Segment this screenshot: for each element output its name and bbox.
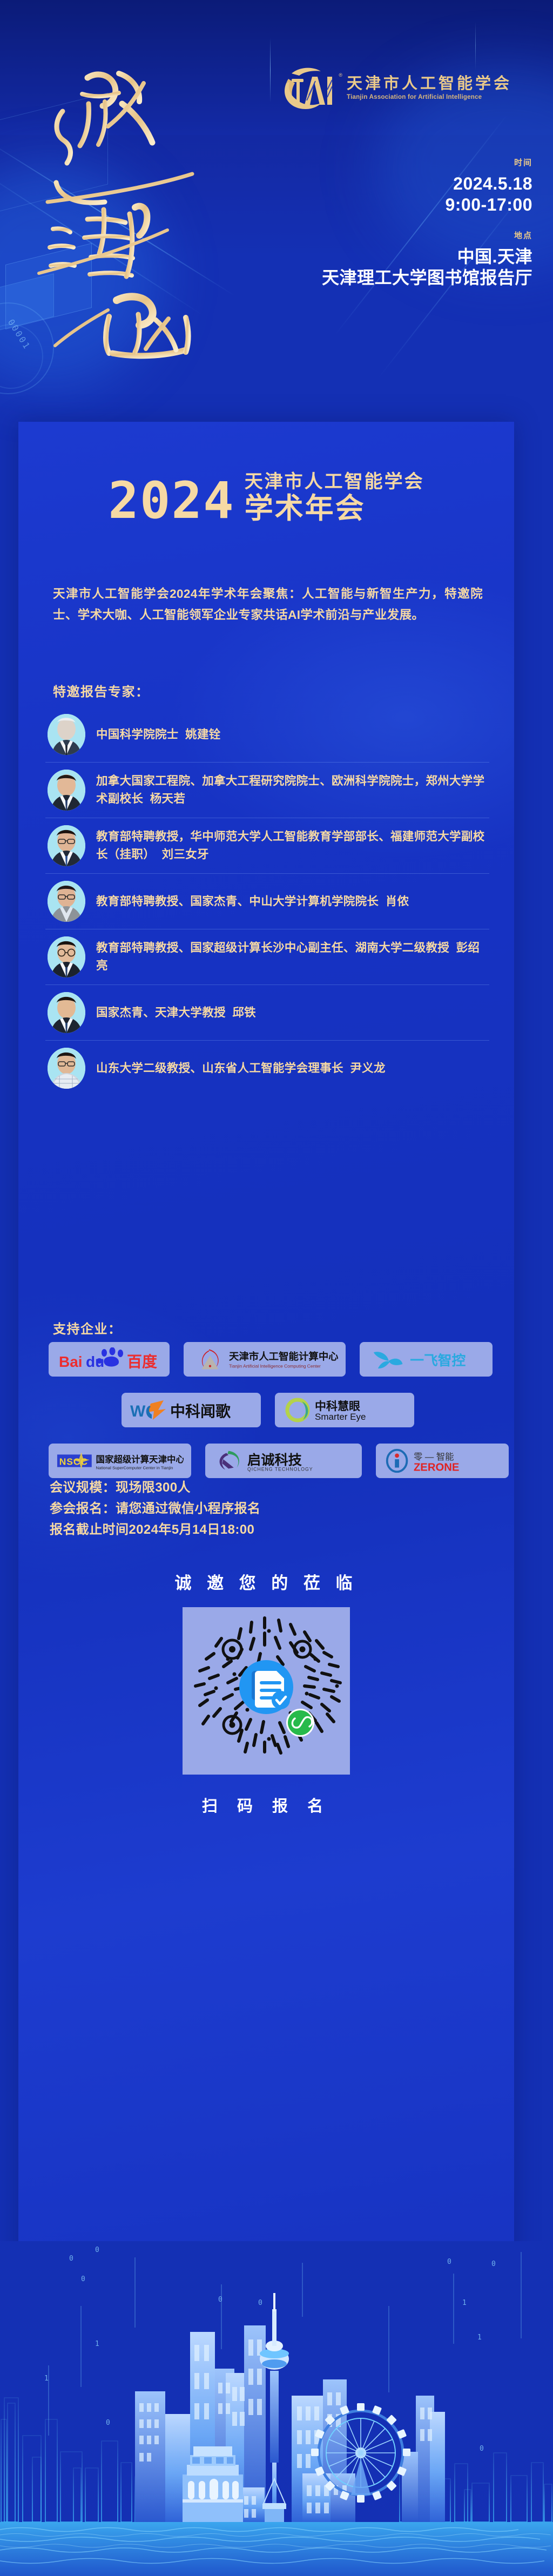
time-date: 2024.5.18 (445, 173, 532, 194)
speaker-name: 肖侬 (386, 895, 409, 908)
qicheng-logo: 启诚科技 QICHENG TECHNOLOGY (205, 1444, 362, 1478)
wenge-logo: W 中科闻歌 (122, 1393, 261, 1427)
svg-text:ZERONE: ZERONE (414, 1461, 459, 1473)
svg-text:1: 1 (44, 2375, 49, 2383)
calligraphy-invitation (24, 48, 218, 361)
svg-text:0: 0 (106, 2419, 110, 2427)
zerone-logo: 零 — 智能 ZERONE (376, 1444, 509, 1478)
speaker-info: 山东大学二级教授、山东省人工智能学会理事长 尹义龙 (96, 1060, 386, 1077)
svg-text:0: 0 (218, 2296, 222, 2304)
svg-text:Smarter Eye: Smarter Eye (315, 1412, 366, 1422)
speaker-name: 邱铁 (232, 1006, 256, 1019)
time-hours: 9:00-17:00 (445, 194, 532, 215)
speaker-title: 国家杰青、天津大学教授 (96, 1006, 226, 1019)
event-title: 2024 天津市人工智能学会 学术年会 (18, 471, 514, 524)
speaker-info: 教育部特聘教授，华中师范大学人工智能教育学部部长、福建师范大学副校长（挂职） 刘… (96, 828, 489, 863)
speaker-info: 加拿大国家工程院、加拿大工程研究院院士、欧洲科学院院士，郑州大学学术副校长 杨天… (96, 772, 489, 807)
place-venue: 天津理工大学图书馆报告厅 (322, 267, 532, 288)
svg-text:0: 0 (480, 2445, 484, 2453)
registration-scale: 会议规模：现场限300人 (50, 1478, 489, 1499)
list-item: 中国科学院院士 姚建铨 (45, 707, 489, 763)
list-item: 加拿大国家工程院、加拿大工程研究院院士、欧洲科学院院士，郑州大学学术副校长 杨天… (45, 763, 489, 818)
speaker-title: 中国科学院院士 (96, 728, 179, 741)
svg-text:0: 0 (258, 2299, 262, 2307)
speaker-info: 教育部特聘教授、国家杰青、中山大学计算机学院院长 肖侬 (96, 893, 409, 911)
place-city: 中国.天津 (322, 246, 532, 267)
list-item: 山东大学二级教授、山东省人工智能学会理事长 尹义龙 (45, 1041, 489, 1096)
avatar (48, 881, 85, 922)
avatar (48, 825, 85, 866)
time-block: 时间 2024.5.18 9:00-17:00 (445, 157, 532, 215)
svg-text:中科慧眼: 中科慧眼 (315, 1400, 360, 1413)
speaker-title: 教育部特聘教授、国家杰青、中山大学计算机学院院长 (96, 895, 379, 908)
speaker-name: 刘三女牙 (162, 848, 209, 861)
yifei-logo: 一飞智控 (360, 1342, 493, 1377)
svg-text:启诚科技: 启诚科技 (247, 1452, 302, 1468)
content-card: 2024 天津市人工智能学会 学术年会 天津市人工智能学会2024年学术年会聚焦… (18, 422, 514, 2269)
svg-text:百度: 百度 (127, 1353, 157, 1370)
svg-text:W: W (130, 1402, 146, 1420)
svg-text:0: 0 (447, 2258, 451, 2266)
title-line-1: 天津市人工智能学会 (245, 471, 424, 493)
place-label: 地点 (322, 230, 532, 241)
sponsor-logo-row: W 中科闻歌 中科慧眼 Smarter Eye (49, 1393, 487, 1427)
registered-mark-icon: ® (339, 72, 342, 78)
svg-text:QICHENG TECHNOLOGY: QICHENG TECHNOLOGY (247, 1466, 313, 1472)
svg-text:1: 1 (477, 2334, 482, 2342)
svg-text:国家超级计算天津中心: 国家超级计算天津中心 (96, 1454, 184, 1465)
qr-caption: 扫 码 报 名 (18, 1793, 514, 1816)
event-description: 天津市人工智能学会2024年学术年会聚焦：人工智能与新智生产力，特邀院士、学术大… (53, 584, 483, 625)
svg-text:天津市人工智能计算中心: 天津市人工智能计算中心 (229, 1351, 338, 1362)
svg-text:NSCC: NSCC (59, 1456, 88, 1467)
taai-logo-en: Tianjin Association for Artificial Intel… (347, 94, 512, 100)
qr-code[interactable] (183, 1607, 350, 1775)
list-item: 教育部特聘教授，华中师范大学人工智能教育学部部长、福建师范大学副校长（挂职） 刘… (45, 818, 489, 874)
svg-text:Tianjin Artificial Intelligenc: Tianjin Artificial Intelligence Computin… (229, 1364, 321, 1369)
title-line-2: 学术年会 (245, 493, 424, 524)
svg-text:零 — 智能: 零 — 智能 (414, 1452, 454, 1462)
speakers-heading: 特邀报告专家： (53, 681, 150, 700)
svg-text:1: 1 (95, 2340, 99, 2348)
svg-text:du: du (86, 1353, 104, 1370)
svg-text:National SuperComputer Center: National SuperComputer Center in Tianjin (96, 1465, 173, 1470)
taai-logo: ® 天津市人工智能学会 Tianjin Association for Arti… (281, 65, 512, 111)
speaker-info: 中国科学院院士 姚建铨 (96, 726, 221, 744)
list-item: 教育部特聘教授、国家超级计算长沙中心副主任、湖南大学二级教授 彭绍亮 (45, 929, 489, 985)
avatar (48, 770, 85, 811)
smartereye-logo: 中科慧眼 Smarter Eye (275, 1393, 414, 1427)
svg-text:0: 0 (491, 2260, 496, 2268)
sponsor-logo-row: NSCC 国家超级计算天津中心 National SuperComputer C… (49, 1444, 487, 1478)
speaker-name: 姚建铨 (185, 728, 220, 741)
svg-text:0: 0 (81, 2275, 85, 2283)
sponsors-heading: 支持企业： (53, 1318, 122, 1337)
baidu-logo: Bai du 百度 (49, 1342, 170, 1377)
speaker-info: 教育部特聘教授、国家超级计算长沙中心副主任、湖南大学二级教授 彭绍亮 (96, 939, 489, 974)
svg-text:一飞智控: 一飞智控 (410, 1353, 466, 1368)
svg-text:Bai: Bai (59, 1353, 83, 1370)
city-skyline: 000 001 100 110 0 (0, 2241, 553, 2576)
taai-logo-cn: 天津市人工智能学会 (347, 76, 512, 92)
speaker-title: 山东大学二级教授、山东省人工智能学会理事长 (96, 1062, 343, 1075)
title-year: 2024 (108, 478, 234, 524)
avatar (48, 992, 85, 1033)
speaker-list: 中国科学院院士 姚建铨 加拿大国家工程院、加拿大工程研究院院士、欧洲科学院院士，… (45, 707, 489, 1096)
taai-logo-mark-icon: ® (281, 65, 339, 111)
list-item: 国家杰青、天津大学教授 邱铁 (45, 985, 489, 1041)
sponsor-logo-grid: Bai du 百度 天津市人工智能计算中心 Tianjin Artificial… (49, 1342, 487, 1478)
speaker-info: 国家杰青、天津大学教授 邱铁 (96, 1004, 256, 1022)
speaker-name: 尹义龙 (350, 1062, 385, 1075)
hero-glowline-1 (270, 38, 271, 103)
svg-text:1: 1 (462, 2299, 467, 2307)
title-chinese: 天津市人工智能学会 学术年会 (245, 471, 424, 524)
welcome-text: 诚 邀 您 的 莅 临 (18, 1569, 514, 1594)
hero-streak-3 (334, 114, 508, 336)
registration-info: 会议规模：现场限300人 参会报名：请您通过微信小程序报名 报名截止时间2024… (50, 1478, 489, 1541)
taai-logo-text: 天津市人工智能学会 Tianjin Association for Artifi… (347, 76, 512, 100)
sponsor-logo-row: Bai du 百度 天津市人工智能计算中心 Tianjin Artificial… (49, 1342, 487, 1377)
place-block: 地点 中国.天津 天津理工大学图书馆报告厅 (322, 230, 532, 288)
speaker-title: 教育部特聘教授，华中师范大学人工智能教育学部部长、福建师范大学副校长（挂职） (96, 830, 484, 861)
poster-root: 00001 ® 天津市人工智能学会 (0, 0, 553, 2576)
speaker-name: 杨天若 (150, 792, 185, 805)
list-item: 教育部特聘教授、国家杰青、中山大学计算机学院院长 肖侬 (45, 874, 489, 929)
registration-signup: 参会报名：请您通过微信小程序报名 (50, 1499, 489, 1520)
avatar (48, 936, 85, 977)
svg-text:0: 0 (95, 2246, 99, 2254)
avatar (48, 1048, 85, 1089)
avatar (48, 714, 85, 755)
svg-text:0: 0 (69, 2255, 73, 2263)
hero-glowline-2 (475, 22, 476, 70)
nscc-logo: NSCC 国家超级计算天津中心 National SuperComputer C… (49, 1444, 191, 1478)
speaker-title: 教育部特聘教授、国家超级计算长沙中心副主任、湖南大学二级教授 (96, 941, 449, 954)
tjaicc-logo: 天津市人工智能计算中心 Tianjin Artificial Intellige… (184, 1342, 346, 1377)
svg-text:中科闻歌: 中科闻歌 (170, 1403, 231, 1420)
registration-deadline: 报名截止时间2024年5月14日18:00 (50, 1520, 489, 1541)
time-label: 时间 (445, 157, 532, 168)
